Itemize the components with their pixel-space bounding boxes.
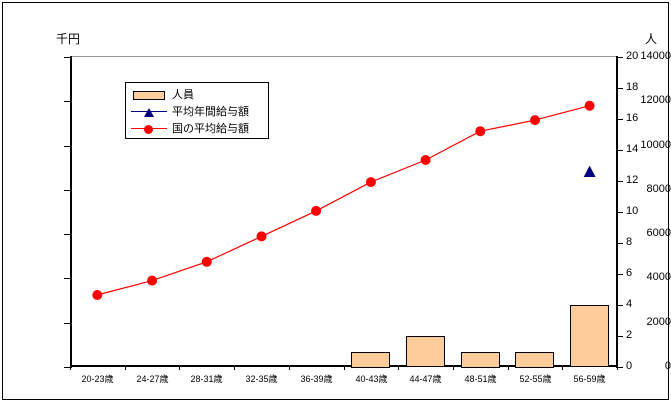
legend-item-national-average-salary: 国の平均給与額 xyxy=(131,120,263,137)
x-axis-tick-label: 56-59歳 xyxy=(562,372,617,385)
legend-item-average-annual-salary: 平均年間給与額 xyxy=(131,103,263,120)
line-marker xyxy=(311,206,321,216)
line-marker xyxy=(202,257,212,267)
line-marker xyxy=(530,115,540,125)
chart-root: 千円 人 02000400060008000100001200014000 02… xyxy=(0,0,671,402)
x-axis-tick-label: 40-43歳 xyxy=(344,372,399,385)
legend-swatch-bar-icon xyxy=(131,89,167,101)
line-marker xyxy=(147,276,157,286)
line-marker xyxy=(92,290,102,300)
line-marker xyxy=(475,126,485,136)
line-series-layer xyxy=(0,0,671,402)
legend-swatch-circle-icon xyxy=(131,123,167,135)
x-axis-tick-label: 44-47歳 xyxy=(398,372,453,385)
line-marker xyxy=(366,177,376,187)
legend-label-national-average-salary: 国の平均給与額 xyxy=(172,123,249,135)
legend-item-jinin: 人員 xyxy=(131,86,263,103)
legend-swatch-triangle-icon xyxy=(131,106,167,118)
line-marker xyxy=(585,101,595,111)
average-annual-salary-marker xyxy=(584,166,596,177)
x-axis-tick-label: 24-27歳 xyxy=(125,372,180,385)
x-axis-tick-label: 48-51歳 xyxy=(453,372,508,385)
line-marker xyxy=(421,155,431,165)
legend-label-jinin: 人員 xyxy=(172,89,194,101)
chart-legend: 人員 平均年間給与額 国の平均給与額 xyxy=(125,82,269,139)
x-axis-tick-label: 52-55歳 xyxy=(508,372,563,385)
x-axis-tick-label: 36-39歳 xyxy=(289,372,344,385)
x-axis-tick-label: 32-35歳 xyxy=(234,372,289,385)
line-marker xyxy=(257,231,267,241)
legend-label-average-annual-salary: 平均年間給与額 xyxy=(172,106,249,118)
x-axis-tick-label: 20-23歳 xyxy=(70,372,125,385)
x-axis-tick-label: 28-31歳 xyxy=(179,372,234,385)
